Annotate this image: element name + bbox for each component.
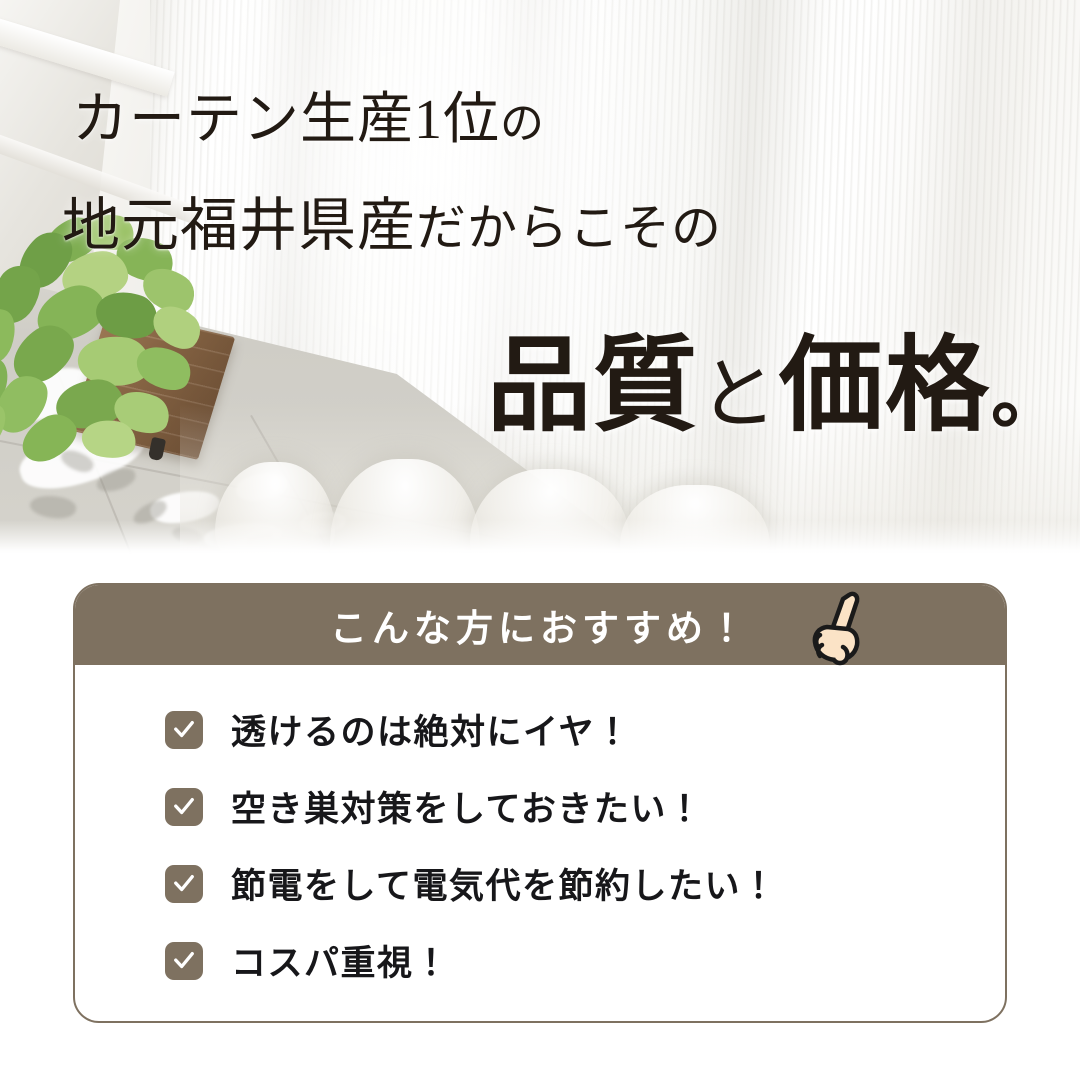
list-item: 空き巣対策をしておきたい！ <box>165 768 1005 845</box>
check-icon <box>165 865 203 903</box>
list-item-label: 節電をして電気代を節約したい！ <box>231 858 777 909</box>
recommendation-card: こんな方におすすめ！ <box>73 583 1007 1023</box>
card-body: 透けるのは絶対にイヤ！ 空き巣対策をしておきたい！ <box>75 665 1005 999</box>
card-header-title: こんな方におすすめ！ <box>330 598 750 652</box>
product-banner: カーテン生産1位の 地元福井県産だからこその 品質と価格。 こんな方におすすめ！ <box>0 0 1080 1080</box>
pointing-hand-icon <box>803 587 877 669</box>
list-item: コスパ重視！ <box>165 922 1005 999</box>
hero-photo <box>0 0 1080 554</box>
list-item: 節電をして電気代を節約したい！ <box>165 845 1005 922</box>
check-icon <box>165 711 203 749</box>
recommendation-list: 透けるのは絶対にイヤ！ 空き巣対策をしておきたい！ <box>75 691 1005 999</box>
check-icon <box>165 942 203 980</box>
card-header: こんな方におすすめ！ <box>75 585 1005 665</box>
list-item-label: 透けるのは絶対にイヤ！ <box>231 704 631 755</box>
check-icon <box>165 788 203 826</box>
list-item-label: コスパ重視！ <box>231 935 450 986</box>
list-item: 透けるのは絶対にイヤ！ <box>165 691 1005 768</box>
list-item-label: 空き巣対策をしておきたい！ <box>231 781 703 832</box>
photo-bottom-fade <box>0 520 1080 554</box>
